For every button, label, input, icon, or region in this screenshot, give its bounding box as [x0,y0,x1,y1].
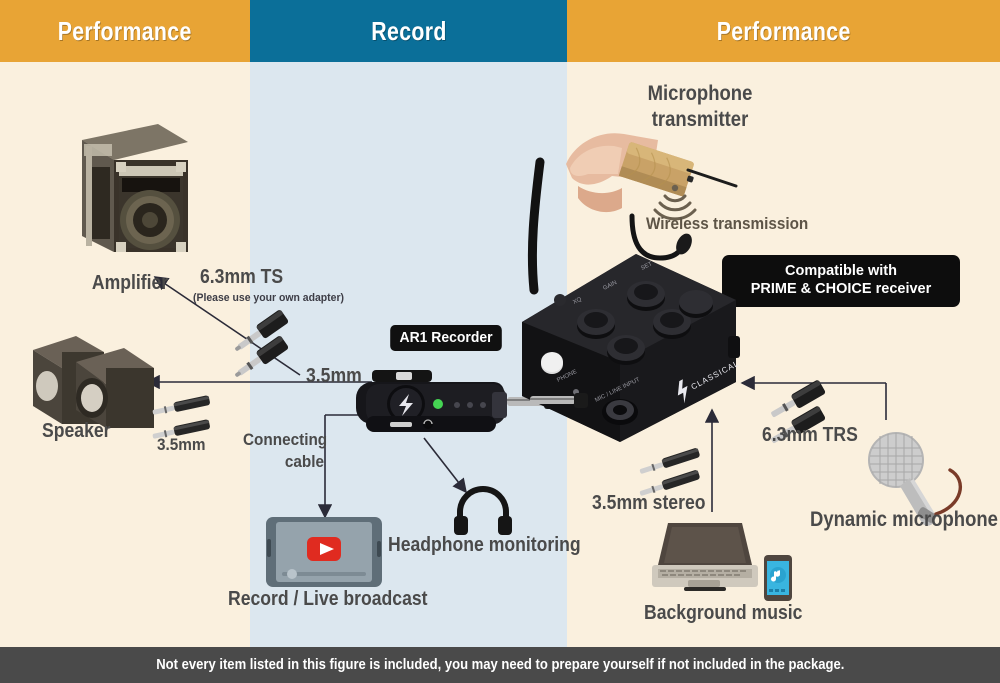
infographic-canvas: Performance Record Performance [0,0,1000,683]
smartphone-broadcast-image [266,517,382,587]
label-speaker: Speaker [42,420,111,442]
label-background-music: Background music [644,602,802,624]
amplifier-image [70,112,190,257]
footer-note-bar: Not every item listed in this figure is … [0,647,1000,683]
label-headphone-monitoring: Headphone monitoring [388,534,581,556]
label-63mm-trs: 6.3mm TRS [762,424,858,446]
label-dynamic-microphone: Dynamic microphone [810,508,998,532]
label-35mm-left: 3.5mm [157,435,205,454]
plug-recorder-to-receiver [530,386,610,416]
label-connecting-cable-1: Connecting [243,430,324,449]
jack-plug-35mm-stereo-pair [636,446,736,496]
badge-compatible-line2: PRIME & CHOICE receiver [728,281,954,299]
laptop-phone-image [650,519,795,594]
label-mic-transmitter-1: Microphone [630,82,771,106]
badge-compatible-line1: Compatible with [728,263,954,281]
label-63mm-ts-note: (Please use your own adapter) [193,292,344,304]
badge-ar1-label: AR1 Recorder [400,329,493,346]
label-35mm-top: 3.5mm [306,365,362,387]
label-63mm-ts: 6.3mm TS [200,266,283,288]
footer-note-text: Not every item listed in this figure is … [156,657,844,673]
label-35mm-stereo: 3.5mm stereo [592,492,705,514]
label-amplifier: Amplifier [86,272,174,294]
label-connecting-cable-2: cable [243,452,324,471]
badge-ar1-recorder: AR1 Recorder [390,325,502,351]
speaker-image [28,328,158,428]
headphone-icon [452,488,514,536]
label-record-live-broadcast: Record / Live broadcast [228,588,428,610]
badge-compatible-receiver: Compatible with PRIME & CHOICE receiver [722,255,960,307]
